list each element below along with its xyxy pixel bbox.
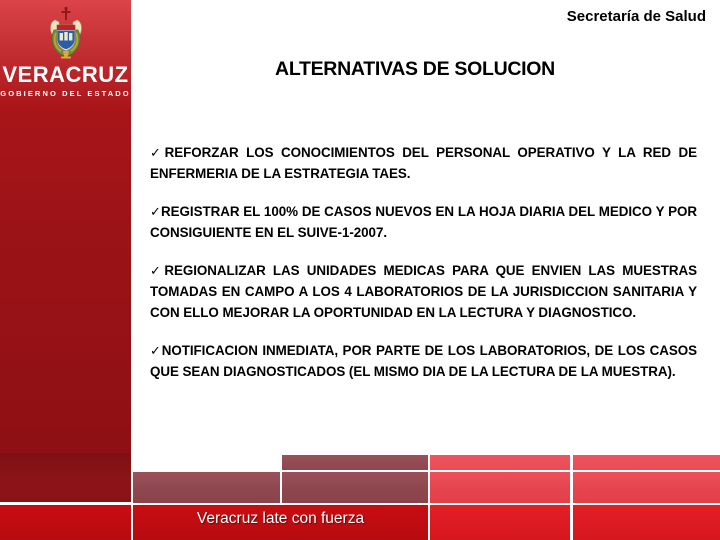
footer-slogan: Veracruz late con fuerza xyxy=(133,510,428,528)
footer-bar-segment-3 xyxy=(573,505,720,540)
footer-bar-segment-2 xyxy=(430,505,570,540)
check-icon: ✓ xyxy=(150,145,165,160)
check-icon: ✓ xyxy=(150,263,164,278)
footer-block-pink-d xyxy=(573,472,720,503)
page-title: ALTERNATIVAS DE SOLUCION xyxy=(155,58,675,81)
footer-bar-segment-0 xyxy=(0,505,131,540)
list-item-text: REGIONALIZAR LAS UNIDADES MEDICAS PARA Q… xyxy=(150,263,697,320)
secretaria-label: Secretaría de Salud xyxy=(567,8,706,25)
list-item: ✓REGISTRAR EL 100% DE CASOS NUEVOS EN LA… xyxy=(150,201,697,243)
footer-block-pink-d-top xyxy=(573,455,720,470)
list-item: ✓REGIONALIZAR LAS UNIDADES MEDICAS PARA … xyxy=(150,260,697,323)
check-icon: ✓ xyxy=(150,343,162,358)
list-item-text: NOTIFICACION INMEDIATA, POR PARTE DE LOS… xyxy=(150,343,697,379)
footer-block-mauve-b xyxy=(282,472,428,503)
veracruz-coat-of-arms-icon xyxy=(46,6,86,60)
brand-sidebar: VERACRUZ GOBIERNO DEL ESTADO xyxy=(0,0,131,502)
footer-block-pink-c-top xyxy=(430,455,570,470)
slide-canvas: VERACRUZ GOBIERNO DEL ESTADO Secretaría … xyxy=(0,0,720,540)
list-item-text: REGISTRAR EL 100% DE CASOS NUEVOS EN LA … xyxy=(150,204,697,240)
list-item: ✓REFORZAR LOS CONOCIMIENTOS DEL PERSONAL… xyxy=(150,142,697,184)
bullet-list: ✓REFORZAR LOS CONOCIMIENTOS DEL PERSONAL… xyxy=(150,142,697,382)
brand-name: VERACRUZ xyxy=(0,64,131,86)
footer-block-mauve-b-top xyxy=(282,455,428,470)
footer-block-pink-c xyxy=(430,472,570,503)
list-item-text: REFORZAR LOS CONOCIMIENTOS DEL PERSONAL … xyxy=(150,145,697,181)
list-item: ✓NOTIFICACION INMEDIATA, POR PARTE DE LO… xyxy=(150,340,697,382)
check-icon: ✓ xyxy=(150,204,161,219)
brand-subtitle: GOBIERNO DEL ESTADO xyxy=(0,89,131,98)
footer-block-mauve-a xyxy=(133,472,280,503)
